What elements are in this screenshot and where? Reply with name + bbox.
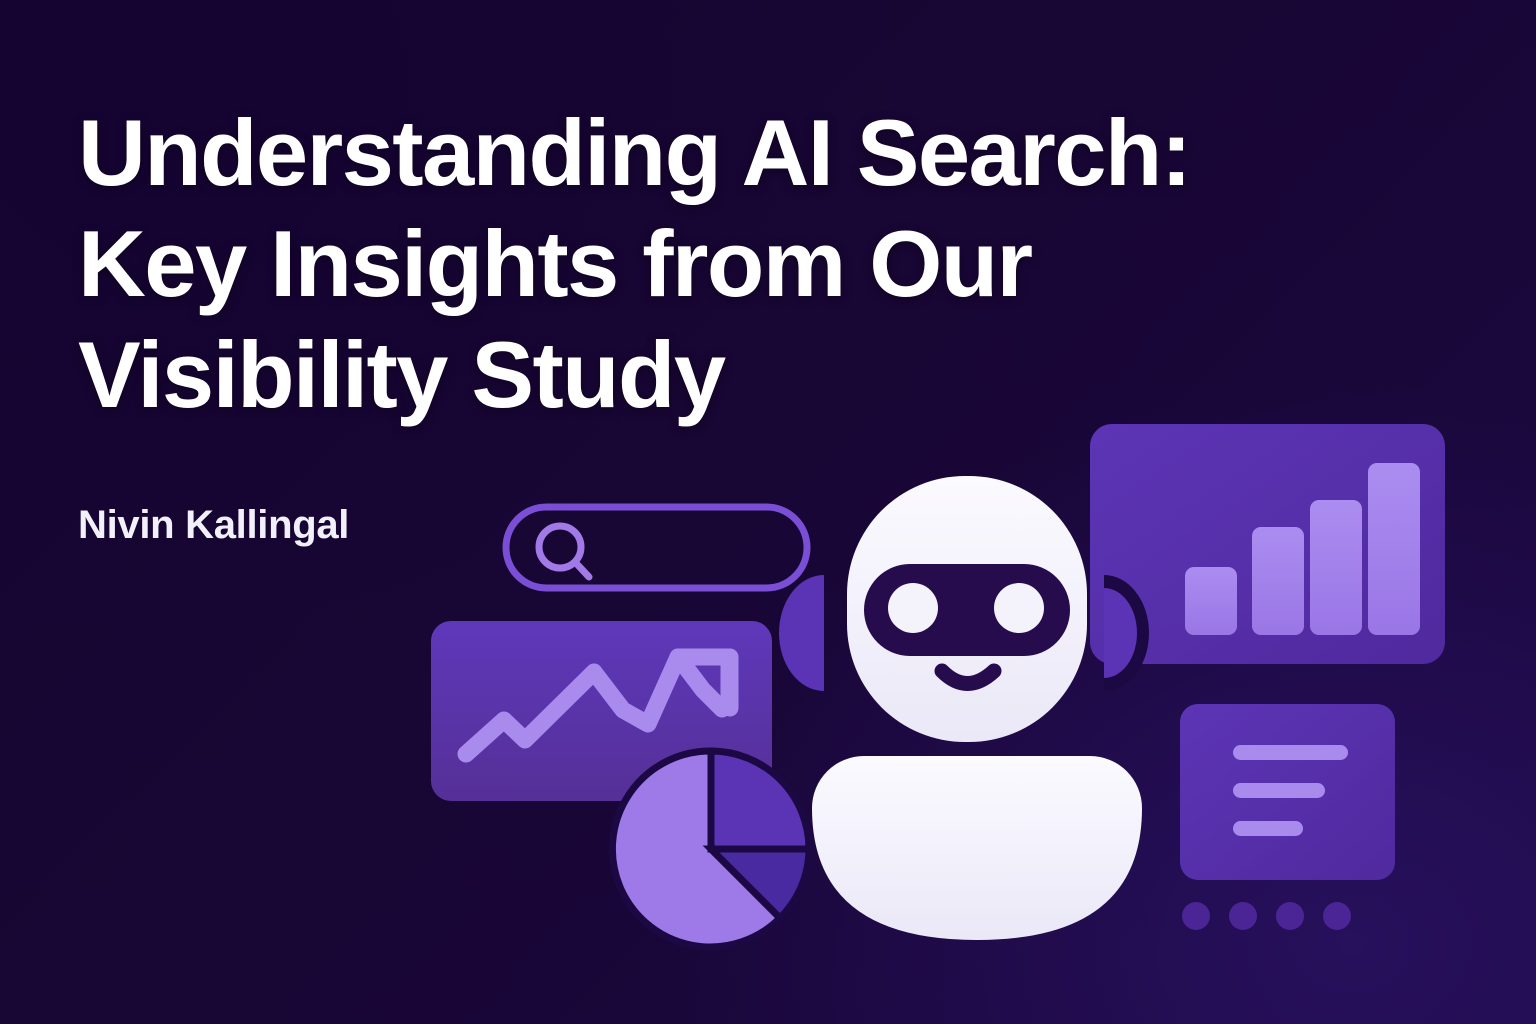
author-name: Nivin Kallingal [78, 431, 1468, 548]
trend-arrow [692, 657, 729, 694]
pie-slice-b [711, 751, 809, 849]
text-line-2 [1233, 783, 1325, 798]
trend-line [466, 657, 730, 754]
pie-slice-c [711, 849, 809, 918]
robot-left-ear [779, 575, 824, 691]
title-block: Understanding AI Search: Key Insights fr… [78, 98, 1468, 548]
robot-smile [942, 671, 994, 684]
pagination-dots [1182, 902, 1351, 930]
bar-1 [1185, 567, 1237, 635]
text-lines-panel [1180, 704, 1395, 880]
dot-2 [1229, 902, 1257, 930]
article-cover-card: Understanding AI Search: Key Insights fr… [0, 0, 1536, 1024]
dot-3 [1276, 902, 1304, 930]
page-title: Understanding AI Search: Key Insights fr… [78, 98, 1468, 431]
dot-1 [1182, 902, 1210, 930]
robot-right-ear [1104, 575, 1149, 691]
text-line-1 [1233, 745, 1348, 760]
trend-arrow-head [678, 657, 730, 708]
robot-right-eye [994, 583, 1044, 633]
dot-4 [1323, 902, 1351, 930]
line-chart-panel [431, 621, 772, 801]
text-line-3 [1233, 821, 1303, 836]
pie-chart [612, 751, 809, 947]
robot-body [812, 756, 1142, 940]
robot-visor [864, 564, 1070, 656]
pie-slice-a [612, 751, 780, 947]
robot-left-eye [888, 583, 938, 633]
